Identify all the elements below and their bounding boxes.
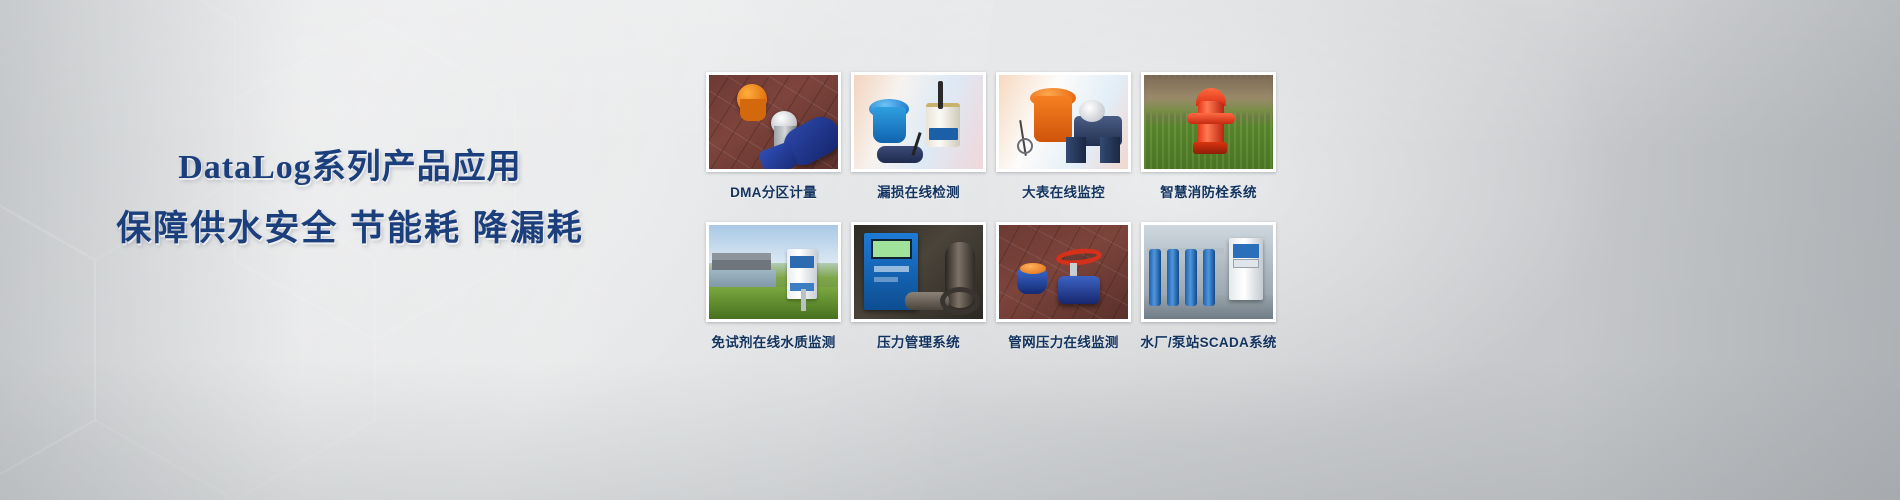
application-card[interactable]: DMA分区计量 bbox=[702, 72, 845, 222]
application-card[interactable]: 大表在线监控 bbox=[992, 72, 1135, 222]
headline-line-1: DataLog系列产品应用 bbox=[0, 146, 700, 190]
pressure-management-cabinet-photo bbox=[854, 225, 983, 319]
card-label: 压力管理系统 bbox=[877, 331, 960, 351]
card-thumbnail-frame bbox=[851, 72, 986, 172]
application-card[interactable]: 漏损在线检测 bbox=[847, 72, 990, 222]
card-label: 管网压力在线监测 bbox=[1008, 331, 1118, 351]
leak-online-detection-logger-photo bbox=[854, 75, 983, 169]
application-card[interactable]: 水厂/泵站SCADA系统 bbox=[1137, 222, 1280, 372]
card-thumbnail-frame bbox=[706, 72, 841, 172]
reagent-free-water-quality-station-photo bbox=[709, 225, 838, 319]
headline-line-2: 保障供水安全 节能耗 降漏耗 bbox=[0, 206, 700, 252]
application-card[interactable]: 免试剂在线水质监测 bbox=[702, 222, 845, 372]
promo-banner: DataLog系列产品应用 保障供水安全 节能耗 降漏耗 DMA分区计量 漏损在… bbox=[0, 0, 1900, 500]
card-thumbnail-frame bbox=[706, 222, 841, 322]
card-label: 漏损在线检测 bbox=[877, 181, 960, 201]
card-label: 智慧消防栓系统 bbox=[1160, 181, 1257, 201]
card-label: 免试剂在线水质监测 bbox=[711, 331, 835, 351]
card-label: 大表在线监控 bbox=[1022, 181, 1105, 201]
card-thumbnail-frame bbox=[851, 222, 986, 322]
application-card[interactable]: 管网压力在线监测 bbox=[992, 222, 1135, 372]
application-card[interactable]: 压力管理系统 bbox=[847, 222, 990, 372]
card-thumbnail-frame bbox=[1141, 222, 1276, 322]
application-card[interactable]: 智慧消防栓系统 bbox=[1137, 72, 1280, 222]
card-thumbnail-frame bbox=[1141, 72, 1276, 172]
pipeline-pressure-valve-photo bbox=[999, 225, 1128, 319]
application-card-grid: DMA分区计量 漏损在线检测 大表在线监控 bbox=[702, 72, 1280, 372]
card-thumbnail-frame bbox=[996, 222, 1131, 322]
waterworks-pumping-scada-photo bbox=[1144, 225, 1273, 319]
card-label: DMA分区计量 bbox=[730, 181, 817, 201]
card-thumbnail-frame bbox=[996, 72, 1131, 172]
dma-metering-chamber-photo bbox=[709, 75, 838, 169]
smart-fire-hydrant-photo bbox=[1144, 75, 1273, 169]
large-meter-online-monitoring-photo bbox=[999, 75, 1128, 169]
banner-headline: DataLog系列产品应用 保障供水安全 节能耗 降漏耗 bbox=[0, 146, 700, 252]
card-label: 水厂/泵站SCADA系统 bbox=[1140, 331, 1276, 351]
